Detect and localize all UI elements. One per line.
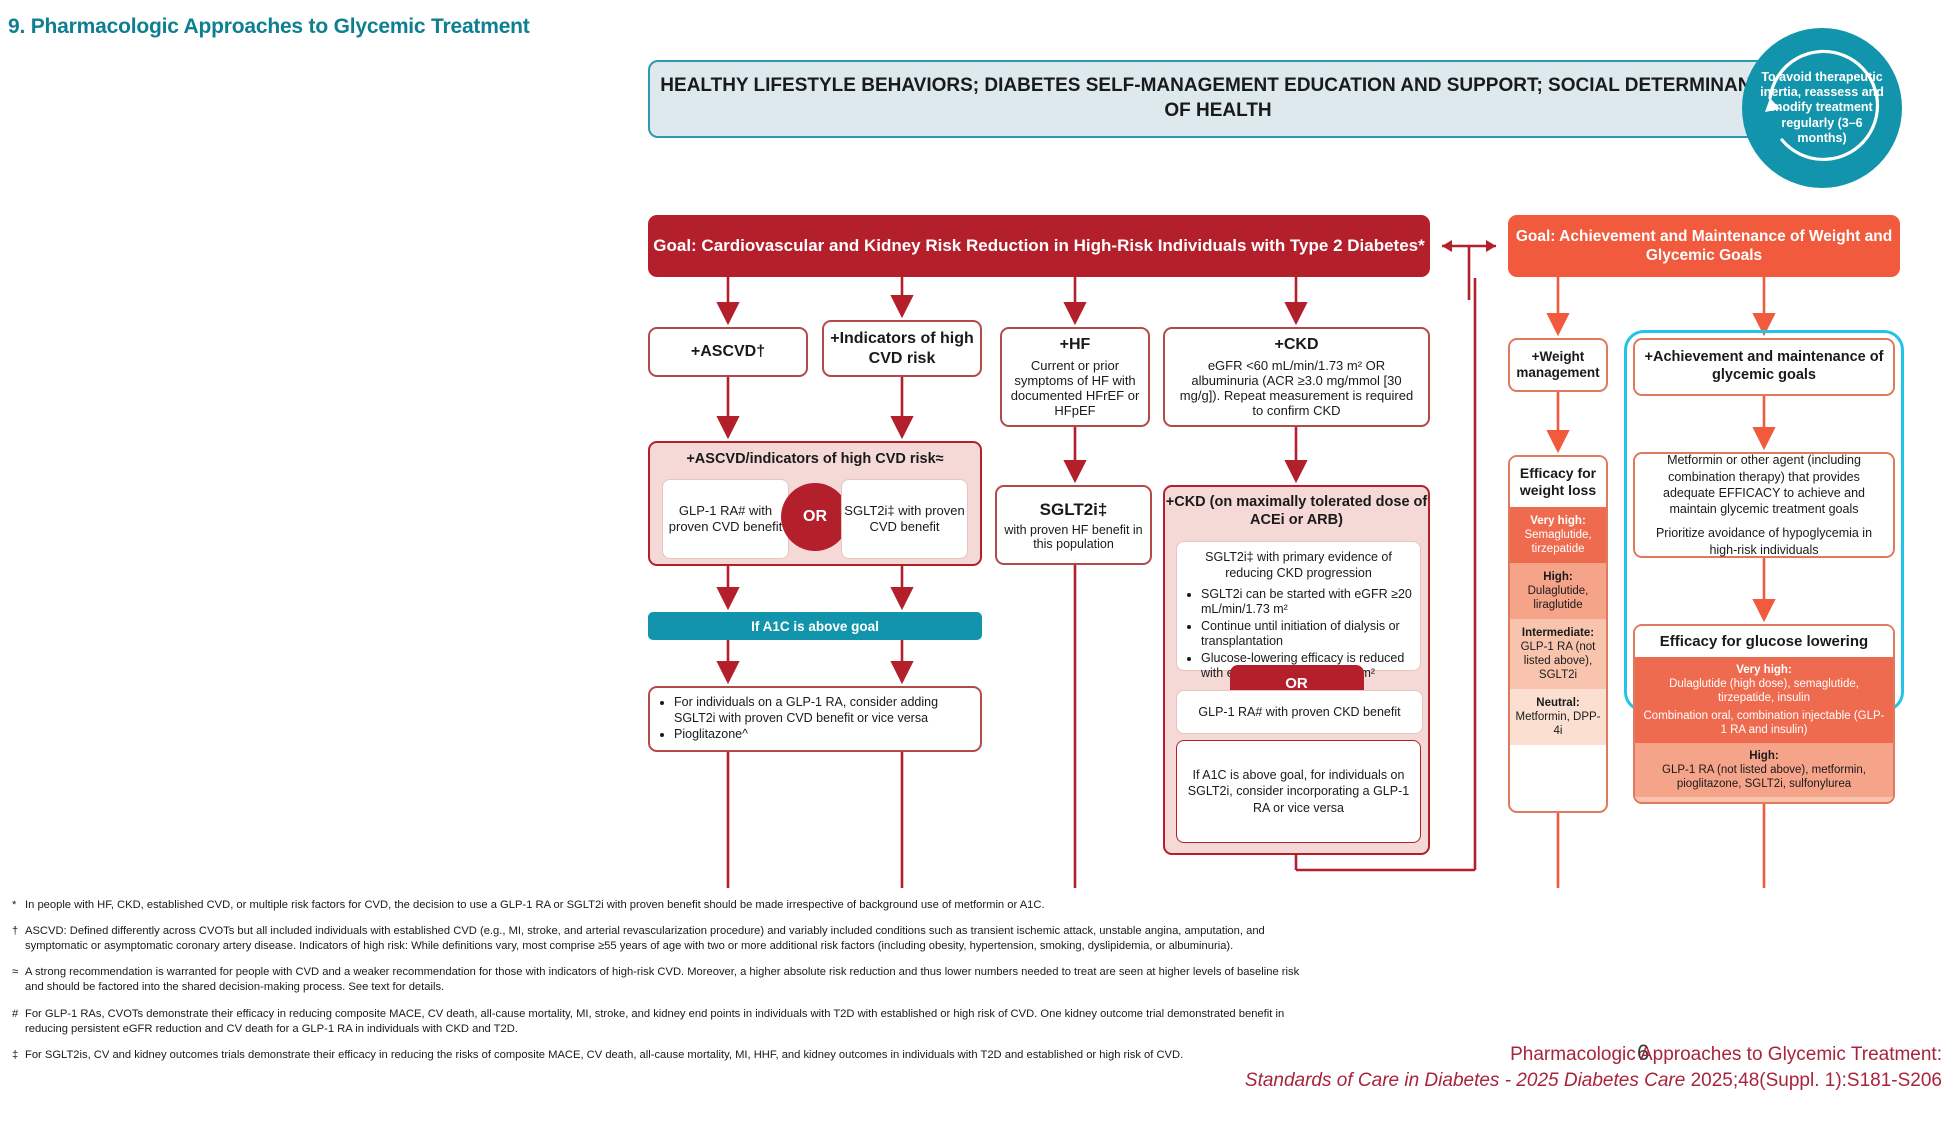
footnote-text: For SGLT2is, CV and kidney outcomes tria… xyxy=(25,1048,1302,1063)
citation-journal: Standards of Care in Diabetes - 2025 Dia… xyxy=(1245,1070,1685,1091)
glycemic-goals-box: +Achievement and maintenance of glycemic… xyxy=(1633,338,1895,396)
efficacy-weight-loss-header: Efficacy for weight loss xyxy=(1510,457,1606,507)
tier-label: High: xyxy=(1513,570,1603,584)
weight-tier-intermediate: Intermediate: GLP-1 RA (not listed above… xyxy=(1510,619,1606,689)
goal-weight-glycemic-banner: Goal: Achievement and Maintenance of Wei… xyxy=(1508,215,1900,277)
therapeutic-inertia-badge: To avoid therapeutic inertia, reassess a… xyxy=(1742,28,1902,188)
condition-box-ckd: +CKD eGFR <60 mL/min/1.73 m² OR albuminu… xyxy=(1163,327,1430,427)
weight-tier-very-high: Very high: Semaglutide, tirzepatide xyxy=(1510,507,1606,563)
lifestyle-banner-text: HEALTHY LIFESTYLE BEHAVIORS; DIABETES SE… xyxy=(650,74,1826,123)
tier-items: Semaglutide, tirzepatide xyxy=(1524,529,1591,555)
weight-tier-high: High: Dulaglutide, liraglutide xyxy=(1510,563,1606,619)
metformin-efficacy-box: Metformin or other agent (including comb… xyxy=(1633,452,1895,558)
citation-line1: Pharmacologic Approaches to Glycemic Tre… xyxy=(1130,1042,1942,1068)
tier-items-secondary: Combination oral, combination injectable… xyxy=(1641,709,1887,737)
citation-line2: Standards of Care in Diabetes - 2025 Dia… xyxy=(1130,1068,1942,1094)
ascvd-panel-title: +ASCVD/indicators of high CVD risk≈ xyxy=(650,451,980,467)
tier-items: GLP-1 RA (not listed above), SGLT2i xyxy=(1521,641,1596,681)
metformin-efficacy-line1: Metformin or other agent (including comb… xyxy=(1645,452,1883,517)
ckd-treatment-panel: +CKD (on maximally tolerated dose of ACE… xyxy=(1163,485,1430,855)
condition-box-hf: +HF Current or prior symptoms of HF with… xyxy=(1000,327,1150,427)
list-item: Continue until initiation of dialysis or… xyxy=(1201,619,1414,649)
condition-box-cvd-risk: +Indicators of high CVD risk xyxy=(822,320,982,377)
condition-ascvd-label: +ASCVD† xyxy=(691,343,765,361)
efficacy-glucose-header: Efficacy for glucose lowering xyxy=(1635,626,1893,657)
list-item: For individuals on a GLP-1 RA, consider … xyxy=(674,695,974,726)
tier-label: Neutral: xyxy=(1513,696,1603,710)
glycemic-goals-label: +Achievement and maintenance of glycemic… xyxy=(1635,349,1893,384)
tier-label: Intermediate: xyxy=(1641,803,1887,804)
efficacy-glucose-lowering-stack: Efficacy for glucose lowering Very high:… xyxy=(1633,624,1895,804)
citation-volume: 2025;48(Suppl. 1):S181-S206 xyxy=(1685,1070,1942,1091)
ascvd-treatment-panel: +ASCVD/indicators of high CVD risk≈ GLP-… xyxy=(648,441,982,566)
ckd-a1c-followup-box: If A1C is above goal, for individuals on… xyxy=(1176,740,1421,843)
citation: Pharmacologic Approaches to Glycemic Tre… xyxy=(1130,1042,1942,1093)
weight-management-label: +Weight management xyxy=(1510,349,1606,381)
a1c-above-goal-bar: If A1C is above goal xyxy=(648,612,982,640)
page-title: 9. Pharmacologic Approaches to Glycemic … xyxy=(8,15,530,39)
tier-label: High: xyxy=(1641,749,1887,763)
a1c-above-goal-label: If A1C is above goal xyxy=(751,619,879,634)
glucose-tier-high: High: GLP-1 RA (not listed above), metfo… xyxy=(1635,743,1893,797)
footnote-marker: † xyxy=(12,924,25,954)
footnote-marker: * xyxy=(12,898,25,913)
footnote-text: For GLP-1 RAs, CVOTs demonstrate their e… xyxy=(25,1007,1302,1037)
goal-cardiovascular-banner: Goal: Cardiovascular and Kidney Risk Red… xyxy=(648,215,1430,277)
condition-box-ascvd: +ASCVD† xyxy=(648,327,808,377)
tier-label: Very high: xyxy=(1513,514,1603,528)
tier-items: GLP-1 RA (not listed above), metformin, … xyxy=(1662,764,1866,790)
tier-items: Metformin, DPP-4i xyxy=(1516,711,1601,737)
cv-followup-bullet-list: For individuals on a GLP-1 RA, consider … xyxy=(656,695,974,743)
footnote-item: † ASCVD: Defined differently across CVOT… xyxy=(12,924,1302,954)
ascvd-option-sglt2i: SGLT2i‡ with proven CVD benefit xyxy=(841,479,968,559)
ckd-glp1-box: GLP-1 RA# with proven CKD benefit xyxy=(1176,690,1423,734)
ckd-sglt2i-box: SGLT2i‡ with primary evidence of reducin… xyxy=(1176,541,1421,671)
hf-treatment-box: SGLT2i‡ with proven HF benefit in this p… xyxy=(995,485,1152,565)
weight-tier-neutral: Neutral: Metformin, DPP-4i xyxy=(1510,689,1606,745)
tier-label: Very high: xyxy=(1641,663,1887,677)
list-item: SGLT2i can be started with eGFR ≥20 mL/m… xyxy=(1201,587,1414,617)
footnote-item: * In people with HF, CKD, established CV… xyxy=(12,898,1302,913)
condition-hf-title: +HF xyxy=(1060,336,1091,354)
footnote-text: A strong recommendation is warranted for… xyxy=(25,965,1302,995)
goal-cardiovascular-text: Goal: Cardiovascular and Kidney Risk Red… xyxy=(653,235,1424,256)
lifestyle-banner: HEALTHY LIFESTYLE BEHAVIORS; DIABETES SE… xyxy=(648,60,1828,138)
hf-treatment-body: with proven HF benefit in this populatio… xyxy=(1001,523,1146,551)
footnote-item: ‡ For SGLT2is, CV and kidney outcomes tr… xyxy=(12,1048,1302,1063)
condition-ckd-title: +CKD xyxy=(1274,336,1318,354)
condition-hf-body: Current or prior symptoms of HF with doc… xyxy=(1006,358,1144,418)
ascvd-or-badge: OR xyxy=(781,483,849,551)
footnote-marker: ≈ xyxy=(12,965,25,995)
ckd-panel-title: +CKD (on maximally tolerated dose of ACE… xyxy=(1165,494,1428,529)
therapeutic-inertia-text: To avoid therapeutic inertia, reassess a… xyxy=(1742,70,1902,146)
ckd-sglt2i-lead: SGLT2i‡ with primary evidence of reducin… xyxy=(1183,550,1414,581)
tier-items: Dulaglutide (high dose), semaglutide, ti… xyxy=(1669,678,1859,704)
tier-label: Intermediate: xyxy=(1513,626,1603,640)
footnote-text: In people with HF, CKD, established CVD,… xyxy=(25,898,1302,913)
ascvd-option-glp1: GLP-1 RA# with proven CVD benefit xyxy=(662,479,789,559)
footnote-marker: ‡ xyxy=(12,1048,25,1063)
cv-followup-bullets-box: For individuals on a GLP-1 RA, consider … xyxy=(648,686,982,752)
metformin-efficacy-line2: Prioritize avoidance of hypoglycemia in … xyxy=(1645,525,1883,558)
condition-cvd-risk-label: +Indicators of high CVD risk xyxy=(824,329,980,367)
efficacy-weight-loss-stack: Efficacy for weight loss Very high: Sema… xyxy=(1508,455,1608,813)
footnote-item: ≈ A strong recommendation is warranted f… xyxy=(12,965,1302,995)
weight-management-box: +Weight management xyxy=(1508,338,1608,392)
glucose-tier-intermediate: Intermediate: DPP-4i xyxy=(1635,797,1893,804)
condition-ckd-body: eGFR <60 mL/min/1.73 m² OR albuminuria (… xyxy=(1173,358,1420,418)
list-item: Pioglitazone^ xyxy=(674,727,974,743)
footnote-item: # For GLP-1 RAs, CVOTs demonstrate their… xyxy=(12,1007,1302,1037)
footnote-marker: # xyxy=(12,1007,25,1037)
footnotes: * In people with HF, CKD, established CV… xyxy=(12,898,1302,1074)
footnote-text: ASCVD: Defined differently across CVOTs … xyxy=(25,924,1302,954)
glucose-tier-very-high: Very high: Dulaglutide (high dose), sema… xyxy=(1635,657,1893,743)
goal-weight-glycemic-text: Goal: Achievement and Maintenance of Wei… xyxy=(1508,227,1900,266)
hf-treatment-title: SGLT2i‡ xyxy=(1040,500,1108,520)
tier-items: Dulaglutide, liraglutide xyxy=(1528,585,1589,611)
